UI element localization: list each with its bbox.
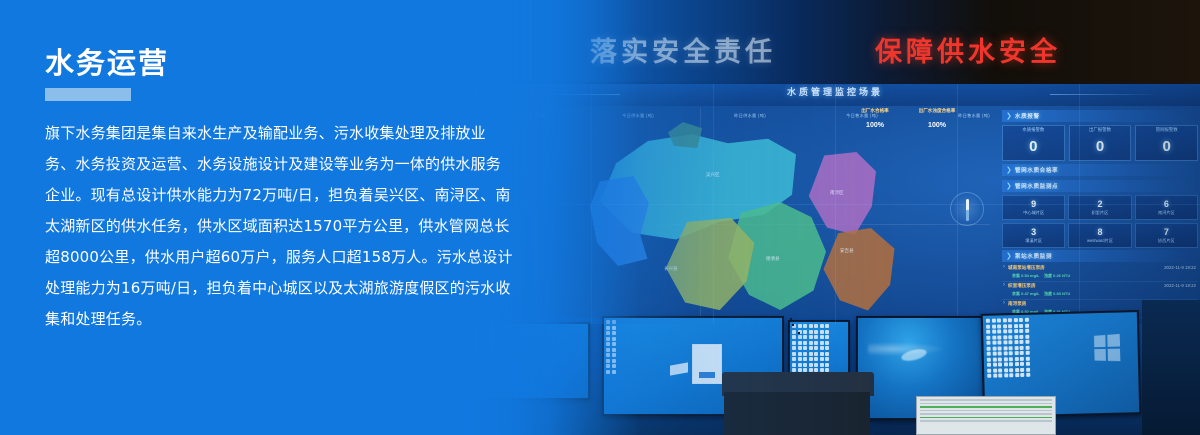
desktop-icon[interactable] — [992, 341, 996, 345]
photo-content: 落实安全责任 保障供水安全 水质管理监控场景 年累计供水量 (万吨) 今日供水量… — [470, 0, 1200, 435]
chevron-right-icon: ❯ — [1006, 183, 1012, 190]
desktop-icon[interactable] — [1019, 329, 1023, 333]
pipe-monitor-panel: ❯ 管网水质监测点 9 中心城片区 2 织里片区 6 — [1002, 180, 1198, 248]
desktop-icon[interactable] — [1020, 362, 1024, 366]
desktop-icon[interactable] — [1013, 324, 1017, 328]
station-log-row: 织里增压泵房 2022-11-9 18:22 余氯 0.47 mg/L 浊度 0… — [1002, 282, 1198, 300]
desktop-icon[interactable] — [992, 324, 996, 328]
map-label: 德清县 — [766, 256, 780, 262]
desktop-icon[interactable] — [612, 359, 616, 363]
pipe-monitor-title: 管网水质监测点 — [1015, 182, 1058, 190]
desktop-icon[interactable] — [1025, 334, 1029, 338]
room-ceiling — [470, 0, 1200, 96]
desktop-icon[interactable] — [1014, 335, 1018, 339]
desktop-icon[interactable] — [612, 353, 616, 357]
desktop-icon[interactable] — [825, 357, 829, 361]
quality-rate-title: 管网水质合格率 — [1015, 166, 1058, 174]
station-time: 2022-11-9 18:22 — [1164, 265, 1196, 270]
desktop-icon[interactable] — [1008, 335, 1012, 339]
map-label: 南浔区 — [830, 190, 844, 196]
wall-seam — [470, 204, 1200, 205]
desktop-icon[interactable] — [798, 346, 802, 350]
windows-logo-icon — [1094, 334, 1120, 361]
desktop-icon[interactable] — [992, 335, 996, 339]
desktop-icon[interactable] — [998, 368, 1002, 372]
desktop-icon[interactable] — [1014, 357, 1018, 361]
alarm-card: 水质报警数 0 — [1002, 125, 1065, 161]
station-metric-1: 余氯 0.54 mg/L — [1012, 273, 1040, 278]
desktop-icon[interactable] — [612, 337, 616, 341]
desktop-icon[interactable] — [606, 370, 610, 374]
desktop-icon[interactable] — [612, 348, 616, 352]
alarm-panel-header: ❯ 水质报警 — [1002, 110, 1198, 122]
pipe-tile: 8 westward片区 — [1068, 223, 1131, 248]
desktop-icon[interactable] — [992, 346, 996, 350]
desktop-icon[interactable] — [1008, 324, 1012, 328]
desktop-icon[interactable] — [820, 357, 824, 361]
desktop-icon[interactable] — [606, 331, 610, 335]
desktop-icon[interactable] — [606, 326, 610, 330]
pipe-tile: 9 中心城片区 — [1002, 195, 1065, 220]
desktop-icon[interactable] — [1024, 323, 1028, 327]
desktop-icon[interactable] — [1014, 346, 1018, 350]
pipe-tile-label: 南浔片区 — [1136, 210, 1197, 216]
desktop-icon[interactable] — [991, 319, 995, 323]
desktop-icon[interactable] — [820, 346, 824, 350]
pipe-tile-label: 埭溪片区 — [1003, 238, 1064, 244]
desktop-icon[interactable] — [820, 335, 824, 339]
desktop-icon[interactable] — [820, 330, 824, 334]
pipe-tile: 3 埭溪片区 — [1002, 223, 1065, 248]
desktop-icon[interactable] — [792, 357, 796, 361]
desktop-icon[interactable] — [809, 335, 813, 339]
station-metric-2: 浊度 0.26 NTU — [1044, 273, 1070, 278]
desktop-icon[interactable] — [825, 330, 829, 334]
desktop-icon[interactable] — [1008, 329, 1012, 333]
desktop-icon[interactable] — [798, 363, 802, 367]
desktop-icon[interactable] — [993, 374, 997, 378]
desktop-icon[interactable] — [825, 352, 829, 356]
chevron-right-icon: ❯ — [1006, 253, 1012, 260]
desktop-icon[interactable] — [987, 374, 991, 378]
station-quality-header: ❯ 泵站水质监测 — [1002, 250, 1198, 262]
station-metrics: 余氯 0.47 mg/L 浊度 0.65 NTU — [1012, 291, 1070, 297]
desktop-icon[interactable] — [820, 324, 824, 328]
desktop-icon[interactable] — [998, 362, 1002, 366]
rate-value: 100% — [928, 122, 946, 129]
desktop-icon[interactable] — [798, 352, 802, 356]
side-rack — [1142, 300, 1200, 435]
desktop-icon[interactable] — [792, 335, 796, 339]
desktop-icon[interactable] — [1026, 373, 1030, 377]
chevron-right-icon: ❯ — [1006, 167, 1012, 174]
foreground-chair — [724, 392, 870, 435]
desktop-icon[interactable] — [986, 319, 990, 323]
pipe-tile-value: 3 — [1003, 227, 1064, 237]
desktop-icon-grid — [986, 318, 1030, 378]
desktop-icon[interactable] — [825, 324, 829, 328]
desktop-icon[interactable] — [606, 342, 610, 346]
wall-slogan-left: 落实安全责任 — [590, 30, 776, 69]
desktop-icon[interactable] — [792, 352, 796, 356]
desktop-icon[interactable] — [825, 363, 829, 367]
station-log-row: 城南泵站增压泵房 2022-11-9 18:22 余氯 0.54 mg/L 浊度… — [1002, 264, 1198, 282]
desktop-icon[interactable] — [986, 341, 990, 345]
desktop-icon[interactable] — [1019, 323, 1023, 327]
desktop-icon[interactable] — [1025, 329, 1029, 333]
desktop-icon[interactable] — [612, 320, 616, 324]
control-room-photo: 落实安全责任 保障供水安全 水质管理监控场景 年累计供水量 (万吨) 今日供水量… — [470, 0, 1200, 435]
desktop-icon[interactable] — [803, 357, 807, 361]
map-region-nanxun — [806, 152, 876, 240]
desktop-icon[interactable] — [1014, 340, 1018, 344]
desktop-icon[interactable] — [1020, 373, 1024, 377]
desktop-icon[interactable] — [1009, 362, 1013, 366]
desktop-icon[interactable] — [803, 363, 807, 367]
desktop-icon[interactable] — [1003, 329, 1007, 333]
desktop-icon[interactable] — [792, 346, 796, 350]
alarm-card-label: 管网报警数 — [1136, 127, 1197, 133]
desktop-icon[interactable] — [612, 364, 616, 368]
pipe-tile: 7 妙西片区 — [1135, 223, 1198, 248]
desktop-icon[interactable] — [1003, 324, 1007, 328]
desktop-icon[interactable] — [814, 357, 818, 361]
compass-icon — [950, 192, 984, 226]
desktop-icon[interactable] — [814, 335, 818, 339]
pipe-tile-label: 妙西片区 — [1136, 238, 1197, 244]
alarm-panel: ❯ 水质报警 水质报警数 0 出厂报警数 0 管网报警数 — [1002, 110, 1198, 161]
station-time: 2022-11-9 18:22 — [1164, 283, 1196, 288]
desktop-icon[interactable] — [992, 352, 996, 356]
desktop-icon[interactable] — [1015, 373, 1019, 377]
video-wall: 水质管理监控场景 年累计供水量 (万吨) 今日供水量 (吨) 昨日供水量 (吨)… — [470, 84, 1200, 324]
pipe-monitor-header: ❯ 管网水质监测点 — [1002, 180, 1198, 192]
desktop-icon[interactable] — [803, 341, 807, 345]
desktop-icon[interactable] — [1009, 357, 1013, 361]
desktop-icon[interactable] — [993, 368, 997, 372]
desktop-icon[interactable] — [798, 341, 802, 345]
desktop-icon[interactable] — [987, 357, 991, 361]
desktop-icon[interactable] — [809, 363, 813, 367]
quality-rate-panel: ❯ 管网水质合格率 — [1002, 164, 1198, 176]
desktop-icon[interactable] — [606, 348, 610, 352]
login-dialog[interactable] — [692, 344, 722, 384]
desktop-icon[interactable] — [803, 352, 807, 356]
desktop-icon[interactable] — [606, 353, 610, 357]
desktop-icon[interactable] — [612, 370, 616, 374]
desktop-icon[interactable] — [792, 330, 796, 334]
map-label: 长兴县 — [664, 266, 678, 272]
desktop-icon[interactable] — [1013, 318, 1017, 322]
alarm-card: 管网报警数 0 — [1135, 125, 1198, 161]
desktop-icon[interactable] — [814, 324, 818, 328]
desktop-icon[interactable] — [814, 352, 818, 356]
desktop-icon[interactable] — [798, 324, 802, 328]
desktop-icon[interactable] — [1014, 362, 1018, 366]
desktop-icon[interactable] — [1003, 340, 1007, 344]
desktop-icon[interactable] — [798, 335, 802, 339]
desktop-icon[interactable] — [986, 330, 990, 334]
desktop-icon[interactable] — [986, 335, 990, 339]
station-name: 南浔泵房 — [1008, 301, 1026, 307]
desktop-icon[interactable] — [997, 329, 1001, 333]
desktop-icon[interactable] — [809, 352, 813, 356]
station-name: 织里增压泵房 — [1008, 283, 1036, 289]
desktop-icon[interactable] — [998, 373, 1002, 377]
desktop-icon[interactable] — [1003, 351, 1007, 355]
cloud-logo-icon — [670, 362, 688, 375]
desktop-icon[interactable] — [1008, 340, 1012, 344]
station-metrics: 余氯 0.54 mg/L 浊度 0.26 NTU — [1012, 273, 1070, 279]
desktop-icon[interactable] — [612, 326, 616, 330]
desktop-icon[interactable] — [606, 364, 610, 368]
pipe-tile-label: 中心城片区 — [1003, 210, 1064, 216]
pipe-tile-value: 7 — [1136, 227, 1197, 237]
login-submit-button[interactable] — [699, 372, 715, 378]
desktop-icon[interactable] — [606, 337, 610, 341]
desktop-icon[interactable] — [1024, 318, 1028, 322]
desktop-icon[interactable] — [992, 363, 996, 367]
desktop-icon-grid — [606, 320, 616, 374]
desktop-icon[interactable] — [997, 340, 1001, 344]
desktop-icon[interactable] — [1025, 340, 1029, 344]
spacer — [790, 318, 792, 320]
map-region-anji — [822, 228, 896, 314]
desktop-icon[interactable] — [792, 363, 796, 367]
desktop-icon[interactable] — [820, 352, 824, 356]
desktop-icon[interactable] — [825, 341, 829, 345]
desktop-icon[interactable] — [987, 352, 991, 356]
spacer — [788, 326, 790, 328]
copy-block: 水务运营 旗下水务集团是集自来水生产及输配业务、污水收集处理及排放业务、水务投资… — [45, 46, 515, 335]
desktop-icon[interactable] — [1025, 351, 1029, 355]
desktop-icon[interactable] — [1020, 367, 1024, 371]
foreground-laptop — [916, 396, 1056, 435]
body-paragraph: 旗下水务集团是集自来水生产及输配业务、污水收集处理及排放业务、水务投资及运营、水… — [45, 118, 515, 335]
banner-stage: 落实安全责任 保障供水安全 水质管理监控场景 年累计供水量 (万吨) 今日供水量… — [0, 0, 1200, 435]
desktop-icon[interactable] — [809, 341, 813, 345]
desktop-icon[interactable] — [814, 346, 818, 350]
desktop-icon[interactable] — [1020, 351, 1024, 355]
alarm-card-value: 0 — [1003, 138, 1064, 155]
desktop-icon[interactable] — [803, 335, 807, 339]
alarm-card-value: 0 — [1136, 138, 1197, 155]
desktop-icon[interactable] — [792, 341, 796, 345]
desktop-icon[interactable] — [1003, 362, 1007, 366]
desktop-icon[interactable] — [1014, 351, 1018, 355]
desktop-icon[interactable] — [986, 324, 990, 328]
desktop-icon[interactable] — [825, 335, 829, 339]
desktop-icon[interactable] — [1026, 367, 1030, 371]
desktop-icon[interactable] — [1019, 318, 1023, 322]
desktop-icon[interactable] — [997, 324, 1001, 328]
desktop-icon[interactable] — [1009, 351, 1013, 355]
desktop-icon[interactable] — [1004, 373, 1008, 377]
desktop-icon[interactable] — [1009, 373, 1013, 377]
desktop-icon[interactable] — [809, 324, 813, 328]
desktop-icon[interactable] — [1009, 346, 1013, 350]
desktop-icon[interactable] — [998, 351, 1002, 355]
desktop-icon[interactable] — [1009, 368, 1013, 372]
desktop-icon[interactable] — [1025, 345, 1029, 349]
station-quality-title: 泵站水质监测 — [1015, 252, 1052, 260]
desktop-icon[interactable] — [798, 357, 802, 361]
desktop-icon[interactable] — [606, 359, 610, 363]
desktop-icon[interactable] — [992, 330, 996, 334]
desktop-icon[interactable] — [803, 330, 807, 334]
desktop-icon[interactable] — [1020, 345, 1024, 349]
region-map: 吴兴区 南浔区 德清县 长兴县 安吉县 — [590, 114, 910, 319]
desktop-icon[interactable] — [1015, 368, 1019, 372]
desktop-icon[interactable] — [997, 318, 1001, 322]
desktop-icon[interactable] — [612, 342, 616, 346]
desktop-icon[interactable] — [1020, 356, 1024, 360]
desktop-icon[interactable] — [1003, 346, 1007, 350]
desktop-icon[interactable] — [987, 368, 991, 372]
desktop-icon[interactable] — [606, 320, 610, 324]
alarm-card-row: 水质报警数 0 出厂报警数 0 管网报警数 0 — [1002, 125, 1198, 161]
map-label: 安吉县 — [840, 248, 854, 254]
desktop-icon[interactable] — [1025, 356, 1029, 360]
spacer — [798, 332, 800, 334]
page-title: 水务运营 — [45, 46, 515, 81]
desktop-icon[interactable] — [820, 363, 824, 367]
desktop-icon[interactable] — [1004, 368, 1008, 372]
monitor-screen — [470, 324, 588, 398]
desktop-icon[interactable] — [1025, 362, 1029, 366]
chevron-right-icon: ❯ — [1006, 113, 1012, 120]
desktop-icon[interactable] — [809, 346, 813, 350]
desktop-icon[interactable] — [1003, 357, 1007, 361]
desktop-icon[interactable] — [820, 341, 824, 345]
alarm-panel-title: 水质报警 — [1015, 112, 1040, 120]
alarm-card-label: 水质报警数 — [1003, 127, 1064, 133]
pipe-tile-grid: 9 中心城片区 2 织里片区 6 南浔片区 3 — [1002, 195, 1198, 248]
desktop-icon[interactable] — [1003, 335, 1007, 339]
pipe-tile: 2 织里片区 — [1068, 195, 1131, 220]
desktop-icon[interactable] — [987, 346, 991, 350]
title-accent-bar — [45, 88, 131, 101]
desktop-icon[interactable] — [612, 331, 616, 335]
station-name: 城南泵站增压泵房 — [1008, 265, 1045, 271]
desktop-icon[interactable] — [803, 324, 807, 328]
desktop-icon[interactable] — [825, 346, 829, 350]
desktop-icon[interactable] — [1002, 318, 1006, 322]
desktop-icon[interactable] — [1019, 340, 1023, 344]
quality-rate-header: ❯ 管网水质合格率 — [1002, 164, 1198, 176]
desktop-icon[interactable] — [1014, 329, 1018, 333]
desktop-icon[interactable] — [992, 357, 996, 361]
desktop-icon[interactable] — [803, 346, 807, 350]
desktop-icon[interactable] — [809, 330, 813, 334]
desktop-icon[interactable] — [1008, 318, 1012, 322]
desktop-icon[interactable] — [814, 363, 818, 367]
desktop-icon[interactable] — [998, 346, 1002, 350]
desktop-icon[interactable] — [997, 335, 1001, 339]
desktop-icon[interactable] — [998, 357, 1002, 361]
desktop-icon[interactable] — [814, 330, 818, 334]
desktop-icon[interactable] — [1019, 334, 1023, 338]
spacer — [792, 324, 794, 326]
desktop-icon[interactable] — [809, 357, 813, 361]
desktop-icon[interactable] — [987, 363, 991, 367]
station-metric-1: 余氯 0.47 mg/L — [1012, 291, 1040, 296]
wall-slogan-right: 保障供水安全 — [875, 30, 1061, 69]
pipe-tile: 6 南浔片区 — [1135, 195, 1198, 220]
station-metric-2: 浊度 0.65 NTU — [1044, 291, 1070, 296]
desktop-icon[interactable] — [814, 341, 818, 345]
